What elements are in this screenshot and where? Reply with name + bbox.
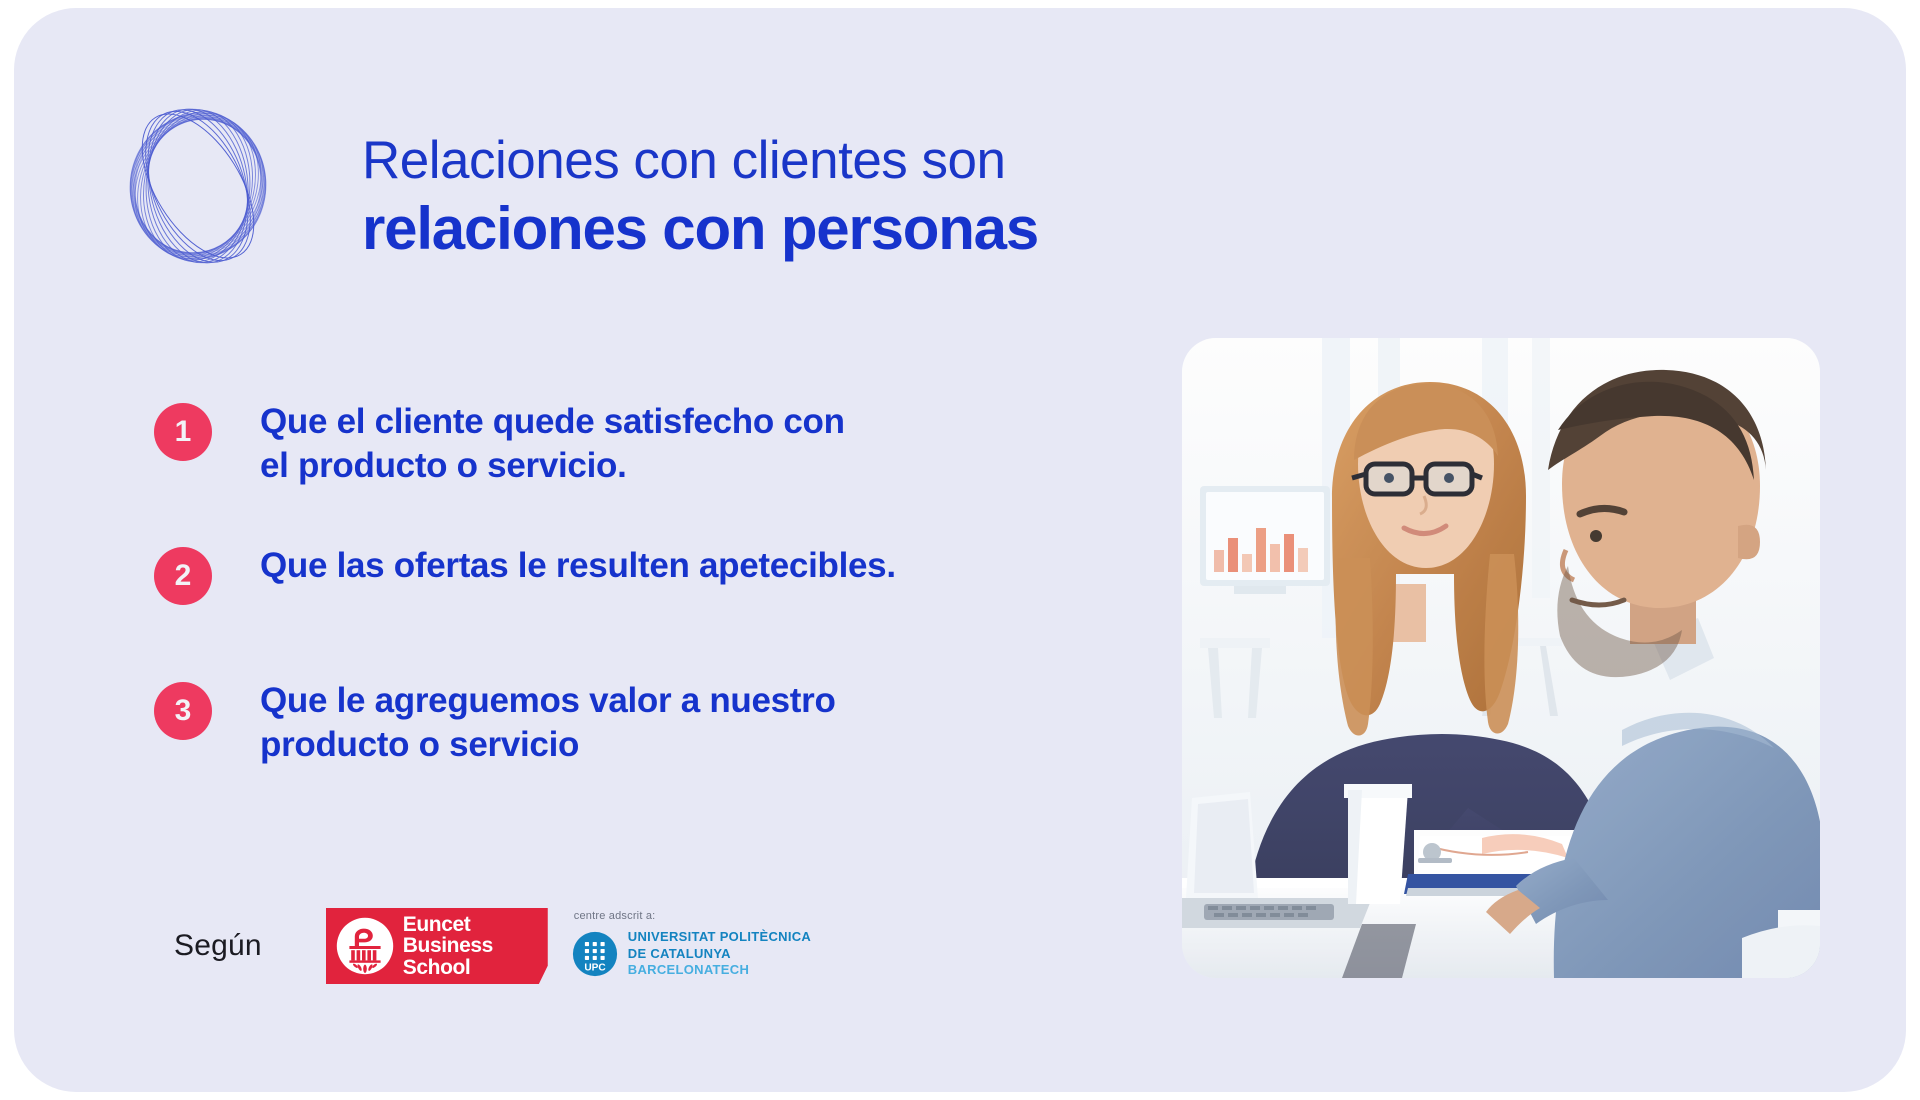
credits-row: Según bbox=[174, 908, 811, 984]
euncet-emblem-icon bbox=[335, 916, 395, 976]
upc-line-1: UNIVERSITAT POLITÈCNICA bbox=[628, 929, 811, 946]
page-title: Relaciones con clientes son relaciones c… bbox=[362, 134, 1038, 259]
euncet-wordmark: Euncet Business School bbox=[403, 914, 493, 979]
upc-logo: UPC UNIVERSITAT POLITÈCNICA DE CATALUNYA… bbox=[572, 929, 811, 979]
office-meeting-photo bbox=[1182, 338, 1820, 978]
list-item: 3 Que le agreguemos valor a nuestro prod… bbox=[154, 679, 1114, 767]
adscrit-note: centre adscrit a: bbox=[574, 910, 656, 922]
euncet-line-3: School bbox=[403, 957, 493, 979]
point-text: Que le agreguemos valor a nuestro produc… bbox=[260, 679, 836, 767]
list-item: 2 Que las ofertas le resulten apetecible… bbox=[154, 544, 1114, 605]
credit-label: Según bbox=[174, 929, 262, 963]
points-list: 1 Que el cliente quede satisfecho con el… bbox=[154, 400, 1114, 767]
euncet-line-2: Business bbox=[403, 935, 493, 957]
upc-line-2: DE CATALUNYA bbox=[628, 946, 811, 963]
euncet-line-1: Euncet bbox=[403, 914, 493, 936]
slide-card: Relaciones con clientes son relaciones c… bbox=[14, 8, 1906, 1092]
euncet-business-school-logo: Euncet Business School bbox=[326, 908, 548, 984]
point-number-badge: 3 bbox=[154, 682, 212, 740]
upc-line-3: BARCELONATECH bbox=[628, 962, 811, 979]
point-text: Que las ofertas le resulten apetecibles. bbox=[260, 544, 896, 588]
upc-emblem-icon: UPC bbox=[572, 931, 618, 977]
upc-wordmark: UNIVERSITAT POLITÈCNICA DE CATALUNYA BAR… bbox=[628, 929, 811, 979]
title-line-2: relaciones con personas bbox=[362, 199, 1038, 259]
euncet-spiral-logo-icon bbox=[102, 90, 294, 282]
list-item: 1 Que el cliente quede satisfecho con el… bbox=[154, 400, 1114, 488]
title-line-1: Relaciones con clientes son bbox=[362, 134, 1038, 187]
slide-header: Relaciones con clientes son relaciones c… bbox=[14, 8, 1906, 308]
point-number-badge: 2 bbox=[154, 547, 212, 605]
point-text: Que el cliente quede satisfecho con el p… bbox=[260, 400, 845, 488]
upc-logo-group: centre adscrit a: bbox=[572, 908, 811, 984]
point-number-badge: 1 bbox=[154, 403, 212, 461]
svg-text:UPC: UPC bbox=[584, 963, 606, 974]
